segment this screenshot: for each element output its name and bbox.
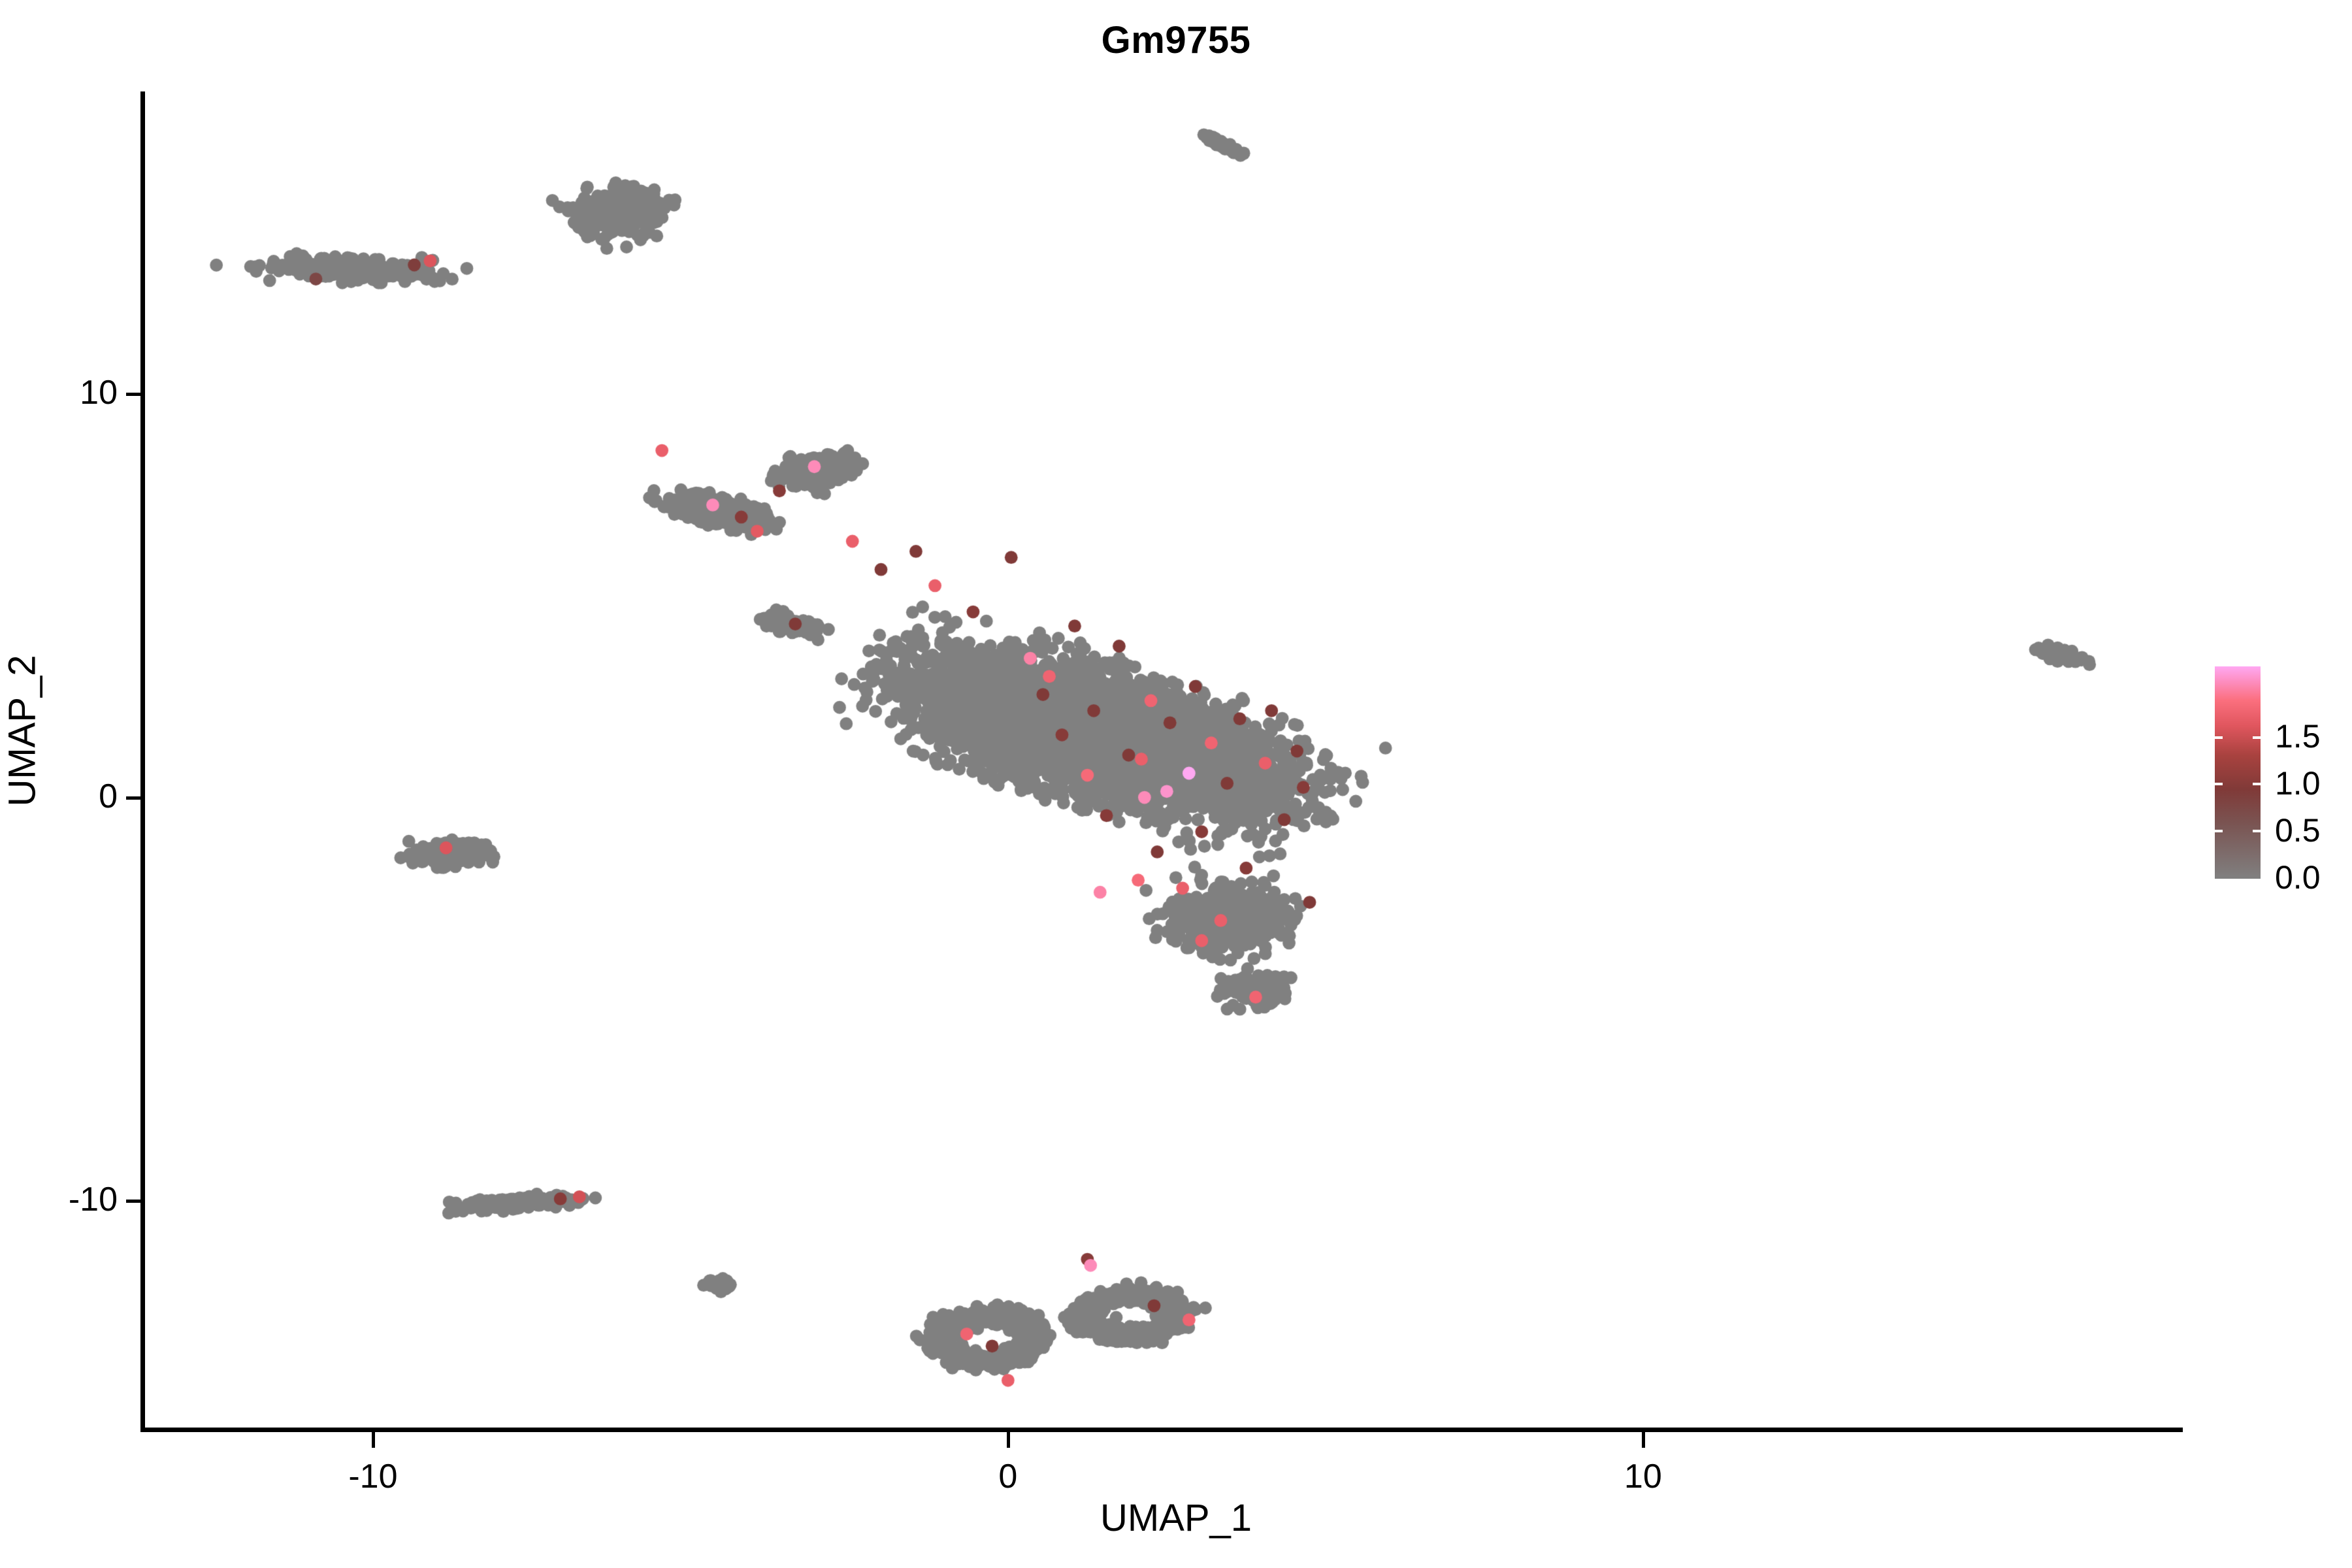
legend-tick-mark <box>2215 830 2223 832</box>
y-tick-mark <box>126 796 140 800</box>
legend-tick-mark <box>2253 783 2261 785</box>
y-tick-mark <box>126 1200 140 1203</box>
x-axis-line <box>140 1428 2183 1432</box>
x-axis-title: UMAP_1 <box>0 1496 2352 1540</box>
x-tick-label: -10 <box>275 1457 471 1496</box>
y-tick-label: 10 <box>0 373 118 412</box>
plot-panel <box>144 91 2183 1431</box>
y-axis-line <box>140 91 145 1432</box>
legend-tick-mark <box>2215 783 2223 785</box>
legend-label-2: 1.0 <box>2275 767 2321 800</box>
umap-feature-plot: Gm9755 -10010-10010 UMAP_1 UMAP_2 1.5 1.… <box>0 0 2352 1568</box>
legend-label-3: 0.5 <box>2275 814 2321 847</box>
legend-tick-mark <box>2253 830 2261 832</box>
x-tick-mark <box>372 1432 375 1448</box>
x-tick-mark <box>1007 1432 1010 1448</box>
legend-label-4: 0.0 <box>2275 861 2321 894</box>
legend-tick-mark <box>2253 736 2261 739</box>
page-title: Gm9755 <box>0 18 2352 62</box>
y-tick-label: -10 <box>0 1180 118 1219</box>
y-axis-title: UMAP_2 <box>1 502 44 960</box>
scatter-plot-canvas <box>144 91 2183 1431</box>
x-tick-label: 10 <box>1545 1457 1741 1496</box>
color-legend: 1.5 1.0 0.5 0.0 <box>2215 666 2345 889</box>
x-tick-label: 0 <box>910 1457 1106 1496</box>
legend-tick-mark <box>2215 736 2223 739</box>
x-tick-mark <box>1642 1432 1645 1448</box>
legend-gradient-bar <box>2215 666 2261 879</box>
legend-label-1: 1.5 <box>2275 720 2321 753</box>
y-tick-mark <box>126 393 140 396</box>
